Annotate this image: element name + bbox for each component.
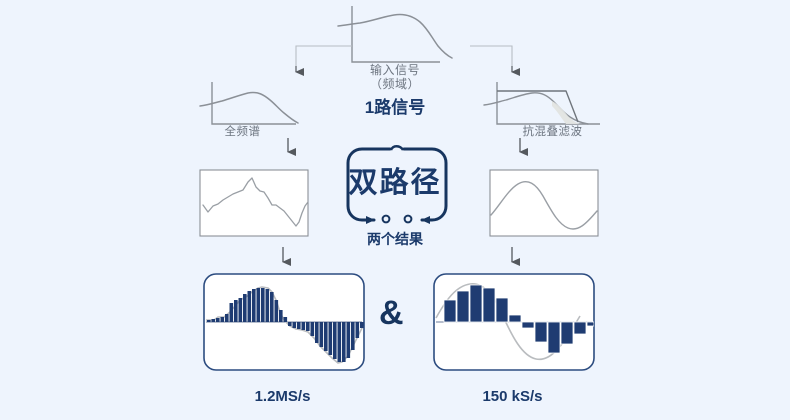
one-channel-label: 1路信号	[0, 98, 790, 118]
anti-alias-filter-label: 抗混叠滤波	[490, 126, 615, 139]
chart-top-input-spectrum	[338, 6, 452, 62]
chart-bottom-left-high-rate	[204, 274, 364, 370]
rate-label-left: 1.2MS/s	[195, 388, 370, 405]
ampersand-symbol: &	[379, 296, 404, 330]
dual-path-label: 双路径	[0, 167, 790, 200]
diagram-canvas: 输入信号 （频域） 1路信号 全频谱 抗混叠滤波 双路径 两个结果 & 1.2M…	[0, 0, 790, 420]
two-results-label: 两个结果	[0, 231, 790, 247]
rate-label-right: 150 kS/s	[425, 388, 600, 405]
input-signal-caption: 输入信号 （频域）	[0, 64, 790, 92]
full-spectrum-label: 全频谱	[185, 126, 300, 139]
chart-bottom-right-low-rate	[434, 274, 594, 370]
input-signal-line1: 输入信号	[370, 63, 420, 77]
input-signal-line2: （频域）	[0, 78, 790, 92]
